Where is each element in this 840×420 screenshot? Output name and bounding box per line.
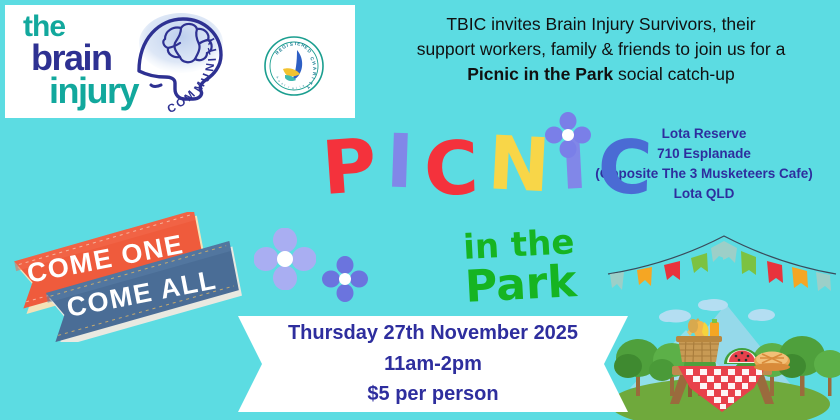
- invite-line-3: Picnic in the Park social catch-up: [366, 62, 836, 87]
- invite-line-3-rest: social catch-up: [613, 64, 735, 84]
- brain-head-icon: C O M M U N I T Y: [125, 9, 265, 117]
- invite-line-1: TBIC invites Brain Injury Survivors, the…: [366, 12, 836, 37]
- logo-line-brain: brain: [31, 41, 112, 74]
- logo-container: the brain injury: [5, 5, 355, 118]
- flower-top-right-icon: [545, 112, 591, 158]
- picnic-letter-1: I: [385, 124, 425, 199]
- svg-text:N: N: [204, 63, 217, 73]
- svg-text:S: S: [290, 42, 294, 47]
- picnic-letter-0: P: [320, 128, 389, 206]
- invite-text: TBIC invites Brain Injury Survivors, the…: [366, 12, 836, 87]
- come-one-come-all-ribbons: COME ONE COME ALL: [6, 212, 256, 342]
- subheadline-line-2: Park: [430, 257, 612, 313]
- poster-canvas: the brain injury: [0, 0, 840, 420]
- invite-line-2: support workers, family & friends to joi…: [366, 37, 836, 62]
- picnic-subheadline: in the Park: [428, 223, 612, 312]
- registered-charity-badge-icon: R E G I S T E R E D C H A R I T Y A u: [263, 35, 325, 97]
- banner-time: 11am-2pm: [384, 349, 482, 379]
- picnic-letter-2: C: [423, 131, 490, 207]
- invite-event-name: Picnic in the Park: [467, 64, 613, 84]
- banner-price: $5 per person: [367, 379, 498, 409]
- date-banner: Thursday 27th November 2025 11am-2pm $5 …: [238, 316, 628, 412]
- pie-icon: [754, 352, 790, 372]
- picnic-illustration: [600, 226, 840, 420]
- picnic-headline: PICNIC: [322, 128, 662, 202]
- flower-small-mid-icon: [322, 256, 368, 302]
- banner-date: Thursday 27th November 2025: [288, 318, 578, 348]
- picnic-letter-5: C: [596, 130, 663, 206]
- flower-large-left-icon: [254, 228, 316, 290]
